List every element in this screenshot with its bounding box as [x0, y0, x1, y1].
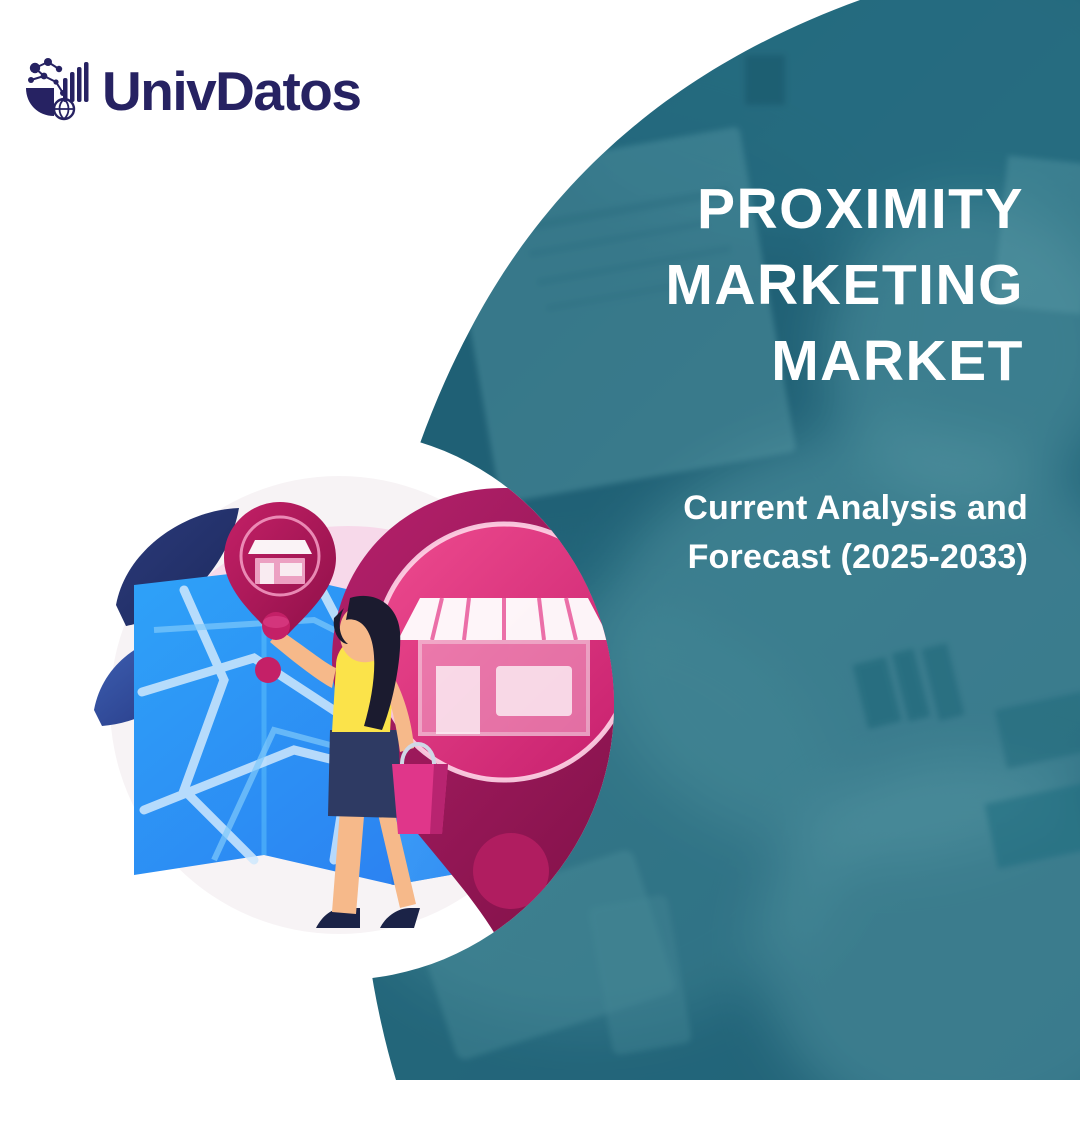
brand-name: UnivDatos — [102, 64, 361, 119]
title-line-2: MARKETING — [554, 248, 1024, 324]
proximity-marketing-illustration — [64, 430, 614, 980]
subtitle-line-2: Forecast (2025-2033) — [548, 533, 1028, 582]
store-icon-large — [398, 598, 610, 734]
title-line-3: MARKET — [554, 324, 1024, 400]
page-subtitle: Current Analysis and Forecast (2025-2033… — [548, 484, 1028, 582]
illustration-circle — [64, 430, 614, 980]
poster-canvas: UnivDatos PROXIMITY MARKETING MARKET Cur… — [0, 0, 1080, 1080]
subtitle-line-1: Current Analysis and — [548, 484, 1028, 533]
page-title: PROXIMITY MARKETING MARKET — [554, 172, 1024, 399]
title-line-1: PROXIMITY — [554, 172, 1024, 248]
univdatos-logo-icon — [18, 52, 92, 131]
store-icon-small — [248, 540, 312, 584]
brand-logo[interactable]: UnivDatos — [18, 52, 361, 131]
